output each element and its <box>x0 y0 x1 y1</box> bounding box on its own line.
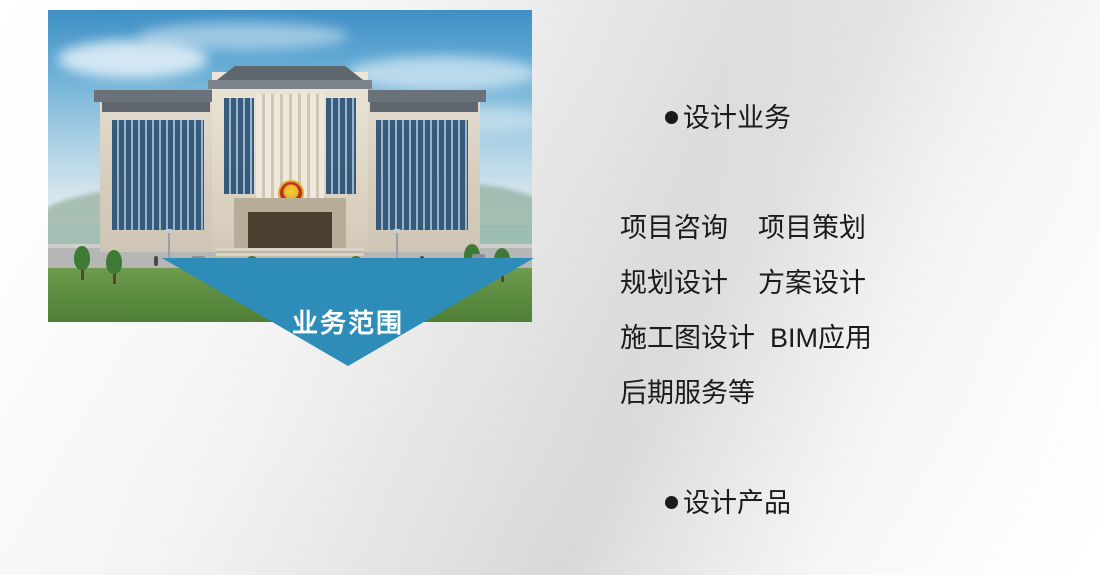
content-list: 设计业务 项目咨询 项目策划 规划设计 方案设计 施工图设计 BIM应用 后期服… <box>620 36 1070 575</box>
list-item: 规划设计 方案设计 <box>620 256 1070 311</box>
window-wall-center-right <box>326 98 356 194</box>
pedestrian <box>154 256 158 266</box>
building-right-wing-roof <box>370 102 478 112</box>
cloud <box>138 22 348 50</box>
list-item: 后期服务等 <box>620 366 1070 421</box>
section-heading-design-services: 设计业务 <box>620 36 1070 201</box>
tree <box>106 250 122 284</box>
building <box>100 72 480 252</box>
list-item: 施工图设计 BIM应用 <box>620 311 1070 366</box>
tree <box>74 246 90 280</box>
window-wall-center-left <box>224 98 254 194</box>
window-wall-left <box>112 120 204 230</box>
bullet-dot-icon <box>665 111 678 124</box>
bullet-dot-icon <box>665 496 678 509</box>
section-heading-text: 设计业务 <box>683 103 791 133</box>
banner-label: 业务范围 <box>162 303 534 340</box>
section-heading-text: 设计产品 <box>683 488 791 518</box>
street-lamp <box>396 232 398 258</box>
building-center-cornice <box>208 80 372 89</box>
list-item: 项目咨询 项目策划 <box>620 201 1070 256</box>
building-left-wing-roof <box>102 102 210 112</box>
section-heading-design-products: 设计产品 <box>620 421 1070 575</box>
street-lamp <box>168 232 170 258</box>
window-wall-right <box>376 120 468 230</box>
slide: 业务范围 设计业务 项目咨询 项目策划 规划设计 方案设计 施工图设计 BIM应… <box>0 0 1100 575</box>
entrance-doorway <box>248 212 332 252</box>
